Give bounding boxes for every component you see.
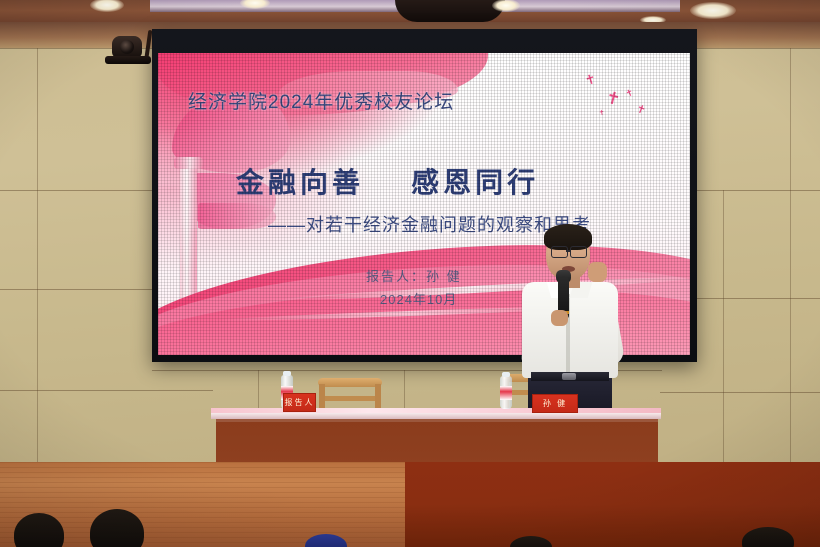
wall-panel-line xyxy=(790,48,791,462)
glasses-icon xyxy=(551,246,568,258)
slide-main-title-right: 感恩同行 xyxy=(411,167,539,198)
bottle-cap-right xyxy=(502,372,510,377)
glasses-icon xyxy=(570,246,587,258)
wall-panel-line xyxy=(0,190,152,191)
speaker-gesturing-hand xyxy=(588,262,607,282)
photo-scene: ✝ ✝ ✝ ✝ ✝ 经济学院2024年优秀校友论坛 金融向善 感恩同行 ——对若… xyxy=(0,0,820,547)
bird-icon: ✝ xyxy=(624,88,635,99)
name-card-right: 孙 健 xyxy=(532,394,578,413)
bird-icon: ✝ xyxy=(598,110,605,118)
chair-left xyxy=(318,378,382,410)
wall-panel-line xyxy=(697,298,820,299)
slide-subtitle: ——对若干经济金融问题的观察和思考 xyxy=(268,211,591,237)
name-card-left-text: 报告人 xyxy=(285,397,315,408)
bird-icon: ✝ xyxy=(583,72,597,88)
wall-panel-line xyxy=(697,190,820,191)
wall-panel-line xyxy=(0,390,213,391)
wall-panel-line xyxy=(660,392,820,393)
slide-presenter: 报告人：孙 健 xyxy=(366,266,462,285)
wall-panel-line xyxy=(404,370,405,410)
slide-column-ornament xyxy=(180,161,197,311)
slide-ribbon-ornament xyxy=(198,203,276,229)
wall-panel-line xyxy=(0,289,152,290)
name-card-right-text: 孙 健 xyxy=(543,398,567,409)
slide-date: 2024年10月 xyxy=(380,289,457,308)
bird-icon: ✝ xyxy=(634,104,647,118)
slide-column-cap xyxy=(174,157,203,169)
glasses-bridge xyxy=(566,250,571,252)
bird-icon: ✝ xyxy=(604,89,622,109)
wall-panel-line xyxy=(723,190,724,462)
slide-main-title: 金融向善 感恩同行 xyxy=(236,161,539,201)
wall-panel-line xyxy=(37,48,38,462)
ceiling-projector xyxy=(395,0,505,22)
camera-lens-icon xyxy=(120,40,134,54)
speaker-hand-holding-mic xyxy=(551,310,568,326)
podium-table-edge-glow xyxy=(211,408,661,413)
podium-table-highlight xyxy=(216,419,658,422)
slide-header-text: 经济学院2024年优秀校友论坛 xyxy=(188,87,454,114)
wall-panel-line xyxy=(258,370,259,410)
bottle-label-right xyxy=(500,386,512,400)
camera-mount xyxy=(105,56,151,64)
name-card-left: 报告人 xyxy=(283,393,316,412)
slide-main-title-left: 金融向善 xyxy=(236,167,364,198)
belt-buckle xyxy=(562,373,576,380)
ceiling-light xyxy=(690,2,736,19)
bottle-cap-left xyxy=(283,371,291,376)
